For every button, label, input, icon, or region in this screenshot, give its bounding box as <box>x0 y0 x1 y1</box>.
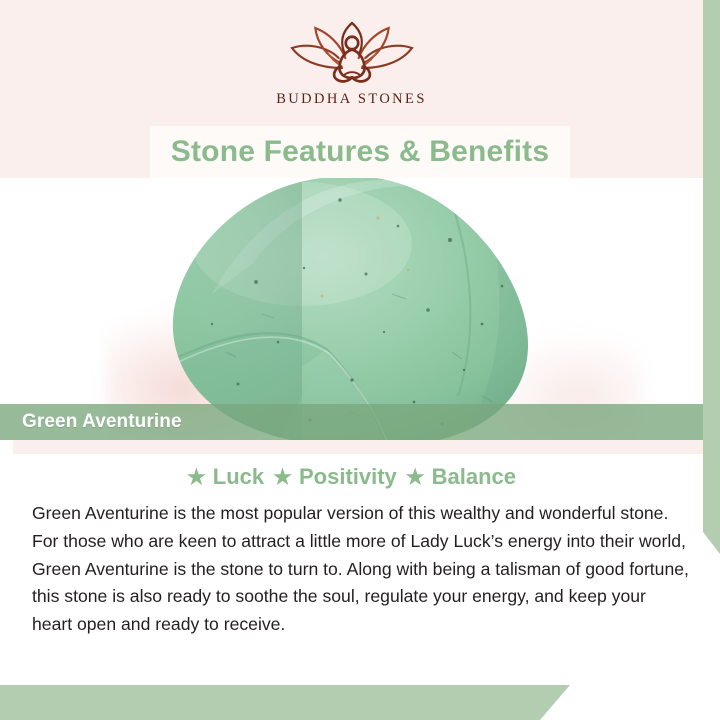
title-banner: Stone Features & Benefits <box>150 126 570 178</box>
benefit-item-positivity: ★ Positivity <box>273 464 397 490</box>
stone-photo <box>0 178 703 440</box>
benefit-label: Luck <box>213 464 264 490</box>
infographic-card: BUDDHA STONES Stone Features & Benefits <box>0 0 720 720</box>
benefit-item-luck: ★ Luck <box>187 464 264 490</box>
benefit-item-balance: ★ Balance <box>406 464 516 490</box>
description-section: ★ Luck ★ Positivity ★ Balance Green Aven… <box>0 440 703 685</box>
star-icon: ★ <box>406 467 425 488</box>
brand-logo: BUDDHA STONES <box>0 18 703 108</box>
benefit-keywords: ★ Luck ★ Positivity ★ Balance <box>0 464 703 490</box>
section-divider <box>13 440 703 454</box>
benefit-label: Positivity <box>299 464 397 490</box>
star-icon: ★ <box>187 467 206 488</box>
description-text: Green Aventurine is the most popular ver… <box>32 500 690 639</box>
frame-right-bar <box>703 34 720 554</box>
brand-name: BUDDHA STONES <box>276 91 427 108</box>
header-section: BUDDHA STONES Stone Features & Benefits <box>0 0 703 178</box>
frame-bottom-bar <box>0 685 570 720</box>
page-title: Stone Features & Benefits <box>171 135 549 169</box>
lotus-meditation-figure-icon <box>268 18 436 88</box>
green-aventurine-stone-image <box>152 178 552 440</box>
benefit-label: Balance <box>432 464 516 490</box>
star-icon: ★ <box>273 467 292 488</box>
stone-caption-band: Green Aventurine <box>0 404 703 440</box>
stone-name-label: Green Aventurine <box>22 411 182 433</box>
